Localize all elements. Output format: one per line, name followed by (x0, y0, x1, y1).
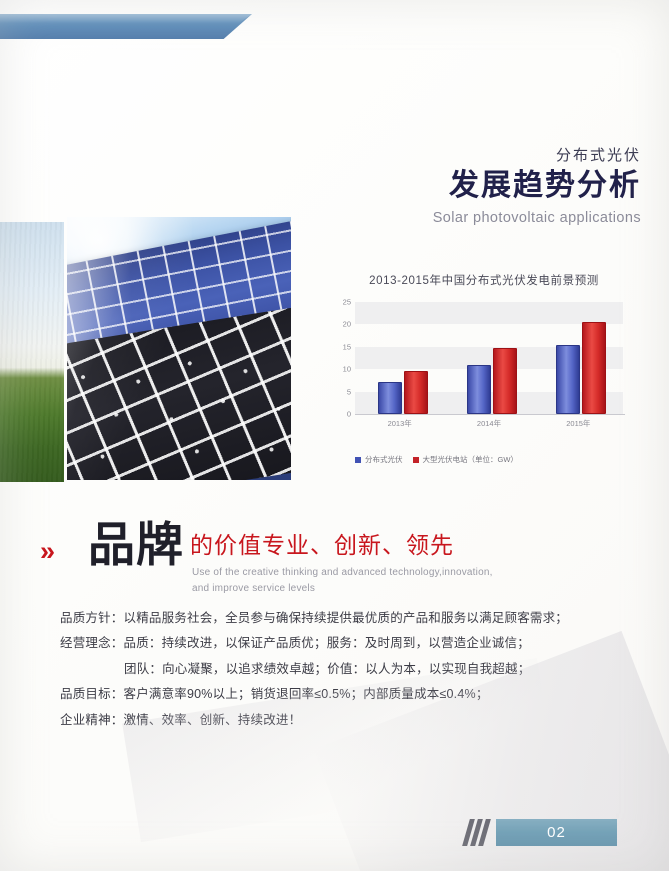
top-blue-ribbon (0, 14, 252, 39)
legend-swatch (413, 457, 419, 463)
chart-y-axis: 0510152025 (325, 302, 355, 414)
policy-text-line: 团队：向心凝聚，以追求绩效卓越；价值：以人为本，以实现自我超越； (60, 657, 620, 682)
chart-y-tick: 0 (347, 410, 351, 419)
chart-legend-item: 分布式光伏 (355, 454, 403, 465)
chart-bar (378, 382, 402, 414)
page-canvas: 分布式光伏 发展趋势分析 Solar photovoltaic applicat… (0, 0, 669, 871)
chart-plot-area (357, 302, 625, 414)
chart-bar (556, 345, 580, 414)
chart-legend-item: 大型光伏电站（单位：GW） (413, 454, 518, 465)
page-title-block: 分布式光伏 发展趋势分析 Solar photovoltaic applicat… (433, 148, 641, 226)
chart-bar (467, 365, 491, 414)
page-subtitle-cn: 分布式光伏 (433, 148, 641, 165)
legend-label: 分布式光伏 (365, 454, 403, 465)
sky-grass-photo-strip (0, 222, 64, 482)
chart-x-label: 2015年 (566, 418, 590, 429)
policy-text-block: 品质方针：以精品服务社会，全员参与确保持续提供最优质的产品和服务以满足顾客需求；… (60, 606, 620, 733)
brand-tagline-cn: 的价值专业、创新、领先 (190, 534, 454, 557)
chart-bar (404, 371, 428, 414)
chart-y-tick: 15 (343, 342, 351, 351)
page-footer: 02 (466, 819, 617, 846)
legend-label: 大型光伏电站（单位：GW） (423, 454, 518, 465)
chart-bar (582, 322, 606, 414)
brand-tagline-en-line2: and improve service levels (192, 581, 493, 597)
chart-x-label: 2013年 (388, 418, 412, 429)
chart-bar (493, 348, 517, 414)
chart-y-tick: 5 (347, 387, 351, 396)
page-number-bar: 02 (496, 819, 617, 846)
chart-legend: 分布式光伏大型光伏电站（单位：GW） (355, 454, 518, 465)
policy-text-line: 品质目标：客户满意率90%以上；销货退回率≤0.5%；内部质量成本≤0.4%； (60, 682, 620, 707)
forecast-bar-chart: 2013-2015年中国分布式光伏发电前景预测 0510152025 2013年… (325, 268, 637, 480)
brand-tagline-en-line1: Use of the creative thinking and advance… (192, 565, 493, 581)
page-number: 02 (547, 824, 566, 841)
brand-tagline-en: Use of the creative thinking and advance… (192, 565, 493, 596)
chart-y-tick: 10 (343, 365, 351, 374)
chart-baseline (355, 414, 625, 415)
page-title: 发展趋势分析 (433, 167, 641, 205)
policy-text-line: 经营理念：品质：持续改进，以保证产品质优；服务：及时周到，以营造企业诚信； (60, 631, 620, 656)
chevron-right-icon: » (40, 538, 55, 565)
brand-word: 品牌 (88, 522, 184, 569)
chart-y-tick: 20 (343, 320, 351, 329)
legend-swatch (355, 457, 361, 463)
policy-text-line: 品质方针：以精品服务社会，全员参与确保持续提供最优质的产品和服务以满足顾客需求； (60, 606, 620, 631)
chart-x-label: 2014年 (477, 418, 501, 429)
page-title-en: Solar photovoltaic applications (433, 210, 641, 226)
solar-panel-photo (67, 217, 291, 480)
policy-text-line: 企业精神：激情、效率、创新、持续改进！ (60, 708, 620, 733)
chart-y-tick: 25 (343, 298, 351, 307)
